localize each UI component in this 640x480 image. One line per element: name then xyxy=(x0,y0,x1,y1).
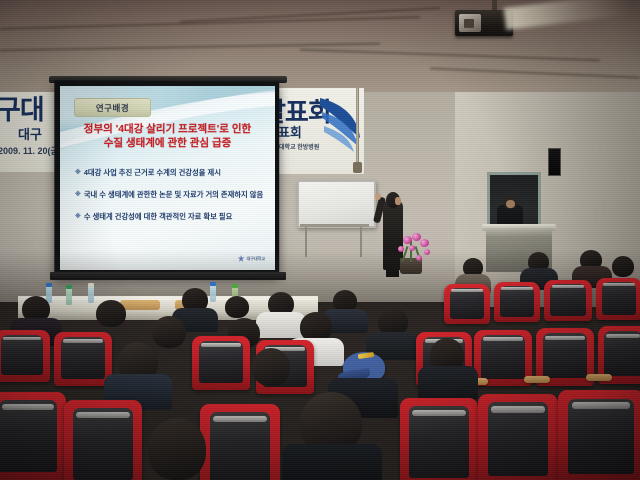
bottle-cap xyxy=(66,285,72,289)
seat[interactable] xyxy=(558,390,640,480)
slide-bullet-list: ※ 4대강 사업 추진 근거로 수계의 건강성을 제시 ※ 국내 수 생태계에 … xyxy=(75,168,270,234)
seat[interactable] xyxy=(54,332,112,386)
slide-bullet-text: 수 생태계 건강성에 대한 객관적인 자료 확보 필요 xyxy=(84,212,232,222)
water-bottle xyxy=(88,286,94,303)
slide-bullet-text: 국내 수 생태계에 관한한 논문 및 자료가 거의 존재하지 않음 xyxy=(84,190,263,200)
audience-shoulders xyxy=(418,366,478,400)
wall-speaker-icon xyxy=(548,148,561,176)
orchid-bloom xyxy=(420,239,429,247)
audience-head xyxy=(252,348,290,386)
audience-head xyxy=(152,316,186,348)
banner-pole xyxy=(356,88,359,170)
bottle-cap xyxy=(46,283,52,287)
slide-section-tab: 연구배경 xyxy=(74,98,151,117)
bullet-marker-icon: ※ xyxy=(75,212,81,222)
seat[interactable] xyxy=(444,284,490,324)
seat[interactable] xyxy=(0,330,50,382)
water-bottle xyxy=(66,288,72,305)
presenter-face xyxy=(395,197,401,205)
whiteboard-tray xyxy=(300,224,369,227)
audience-head-foreground xyxy=(148,418,206,480)
presenter-hand xyxy=(375,193,381,200)
projector-lens-glass xyxy=(464,19,474,28)
snack-tray xyxy=(120,300,160,310)
seat-armrest xyxy=(524,376,550,383)
slide-bullet-item: ※ 4대강 사업 추진 근거로 수계의 건강성을 제시 xyxy=(75,168,270,178)
seat[interactable] xyxy=(200,404,280,480)
orchid-bloom xyxy=(403,236,412,244)
banner-left-date: 2009. 11. 20(금) xyxy=(0,144,62,157)
slide-heading-line2: 수질 생태계에 관한 관심 급증 xyxy=(60,136,275,150)
water-bottle xyxy=(210,285,216,302)
bottle-cap xyxy=(232,284,238,288)
bottle-cap xyxy=(210,282,216,286)
seat-armrest xyxy=(586,374,612,381)
slide-heading: 정부의 '4대강 살리기 프로젝트'로 인한 수질 생태계에 관한 관심 급증 xyxy=(60,122,275,150)
orchid-bloom xyxy=(412,233,421,241)
lecture-hall-photo: 구대 대구 2009. 11. 20(금) 발표회 발표회 대구대학교 한방병원… xyxy=(0,0,640,480)
bullet-marker-icon: ※ xyxy=(75,190,81,200)
seat[interactable] xyxy=(544,280,592,321)
seat[interactable] xyxy=(192,336,250,390)
audience-head xyxy=(225,296,249,318)
lectern-person-face xyxy=(506,200,515,208)
banner-left-line2: 대구 xyxy=(18,124,42,143)
slide-section-tab-label: 연구배경 xyxy=(96,102,129,114)
presentation-slide: 연구배경 정부의 '4대강 살리기 프로젝트'로 인한 수질 생태계에 관한 관… xyxy=(60,86,275,270)
bullet-marker-icon: ※ xyxy=(75,168,81,178)
audience-shoulders xyxy=(256,312,306,338)
bottle-cap xyxy=(88,283,94,287)
slide-bullet-item: ※ 국내 수 생태계에 관한한 논문 및 자료가 거의 존재하지 않음 xyxy=(75,190,270,200)
seat[interactable] xyxy=(0,392,66,480)
audience-head xyxy=(96,300,126,327)
slide-heading-line1: 정부의 '4대강 살리기 프로젝트'로 인한 xyxy=(60,122,275,136)
seat[interactable] xyxy=(64,400,142,480)
seat[interactable] xyxy=(494,282,540,322)
slide-bullet-item: ※ 수 생태계 건강성에 대한 객관적인 자료 확보 필요 xyxy=(75,212,270,222)
whiteboard xyxy=(297,180,376,228)
seat[interactable] xyxy=(596,278,640,320)
banner-pole-knob xyxy=(353,162,362,173)
slide-bullet-text: 4대강 사업 추진 근거로 수계의 건강성을 제시 xyxy=(84,168,221,178)
seat[interactable] xyxy=(400,398,478,480)
audience-head xyxy=(612,256,634,277)
seat[interactable] xyxy=(478,394,558,480)
audience-shoulders xyxy=(282,444,382,480)
